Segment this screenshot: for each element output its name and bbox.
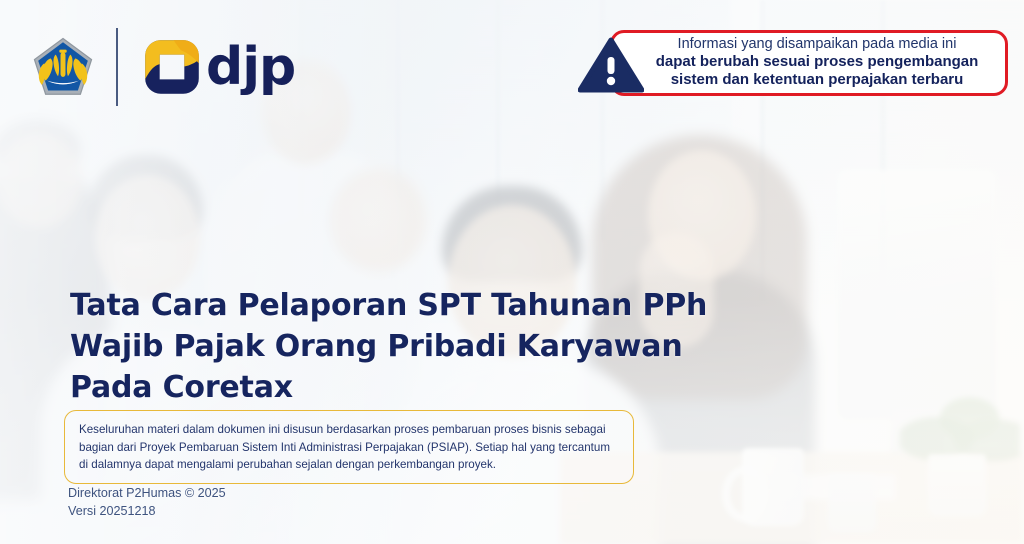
- footer-line-1: Direktorat P2Humas © 2025: [68, 485, 226, 503]
- footer: Direktorat P2Humas © 2025 Versi 20251218: [68, 485, 226, 521]
- page-title: Tata Cara Pelaporan SPT Tahunan PPh Waji…: [70, 286, 707, 408]
- brand-header: djp: [32, 28, 295, 106]
- kemenkeu-emblem-icon: [32, 36, 94, 98]
- slide-canvas: djp Informasi yang disampaikan pada medi…: [0, 0, 1024, 544]
- warning-line-1: Informasi yang disampaikan pada media in…: [678, 36, 957, 53]
- disclaimer-text: Keseluruhan materi dalam dokumen ini dis…: [79, 421, 619, 474]
- header-divider: [116, 28, 118, 106]
- warning-triangle-icon: [578, 37, 644, 93]
- page-title-line-1: Tata Cara Pelaporan SPT Tahunan PPh: [70, 286, 707, 327]
- disclaimer-box: Keseluruhan materi dalam dokumen ini dis…: [64, 410, 634, 484]
- page-title-line-2: Wajib Pajak Orang Pribadi Karyawan: [70, 327, 707, 368]
- warning-banner-box: Informasi yang disampaikan pada media in…: [610, 30, 1008, 96]
- warning-line-2: dapat berubah sesuai proses pengembangan: [656, 53, 979, 71]
- djp-mark-icon: [144, 39, 200, 95]
- footer-line-2: Versi 20251218: [68, 503, 226, 521]
- warning-line-3: sistem dan ketentuan perpajakan terbaru: [671, 71, 964, 89]
- page-title-line-3: Pada Coretax: [70, 368, 707, 409]
- djp-logo: djp: [144, 39, 295, 95]
- djp-wordmark: djp: [206, 41, 295, 93]
- warning-banner: Informasi yang disampaikan pada media in…: [578, 30, 1008, 96]
